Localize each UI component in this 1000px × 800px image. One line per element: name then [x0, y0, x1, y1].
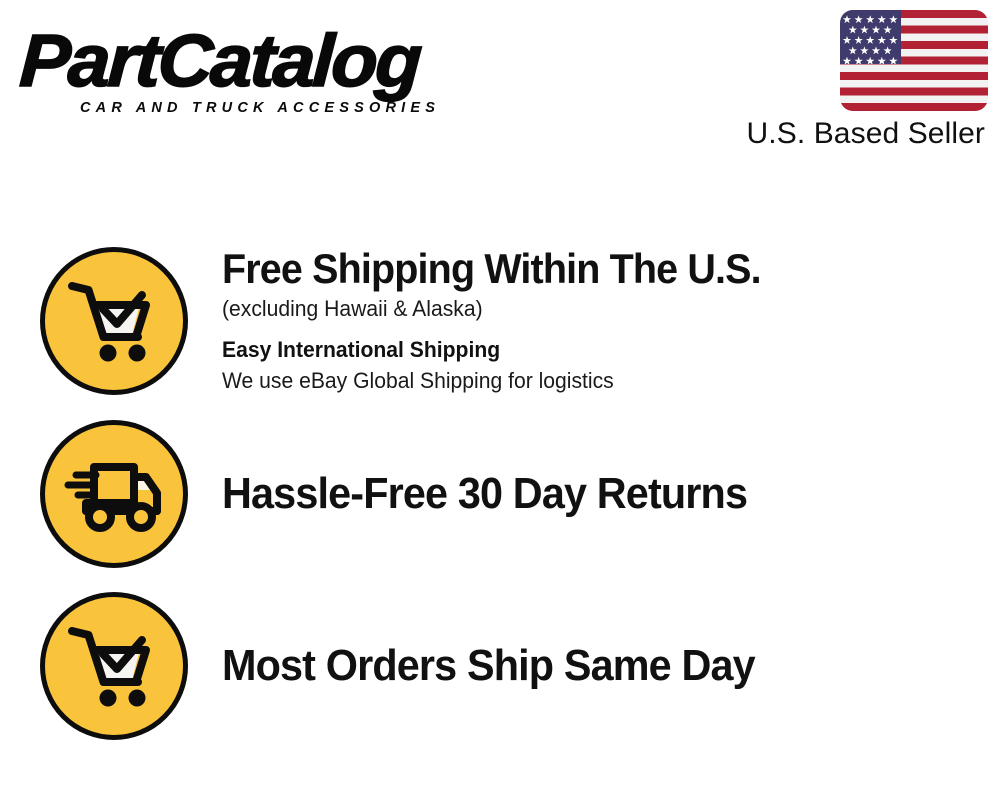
feature-headline: Hassle-Free 30 Day Returns: [222, 469, 935, 519]
feature-subtext-strong: Easy International Shipping: [222, 335, 950, 365]
delivery-truck-icon: [40, 420, 188, 568]
feature-text-block: Hassle-Free 30 Day Returns: [188, 469, 980, 519]
feature-headline: Most Orders Ship Same Day: [222, 641, 935, 691]
feature-list: Free Shipping Within The U.S. (excluding…: [0, 180, 1000, 760]
feature-subtext-secondary: We use eBay Global Shipping for logistic…: [222, 365, 950, 396]
brand-logo: PartCatalog CAR AND TRUCK ACCESSORIES: [22, 24, 492, 119]
us-flag-icon: [840, 10, 988, 111]
feature-row: Most Orders Ship Same Day: [40, 592, 980, 740]
cart-check-icon: [40, 247, 188, 395]
feature-text-block: Free Shipping Within The U.S. (excluding…: [188, 245, 980, 396]
feature-headline: Free Shipping Within The U.S.: [222, 245, 935, 293]
banner-header: PartCatalog CAR AND TRUCK ACCESSORIES: [0, 0, 1000, 175]
feature-row: Free Shipping Within The U.S. (excluding…: [40, 245, 980, 396]
brand-tagline: CAR AND TRUCK ACCESSORIES: [80, 100, 492, 116]
brand-wordmark: PartCatalog: [18, 24, 506, 98]
us-based-seller-badge: U.S. Based Seller: [718, 10, 988, 151]
feature-subtext: (excluding Hawaii & Alaska): [222, 293, 950, 324]
flag-stars: [840, 10, 901, 64]
cart-check-icon: [40, 592, 188, 740]
promo-banner: PartCatalog CAR AND TRUCK ACCESSORIES: [0, 0, 1000, 800]
feature-text-block: Most Orders Ship Same Day: [188, 641, 980, 691]
us-based-seller-label: U.S. Based Seller: [718, 117, 985, 151]
feature-row: Hassle-Free 30 Day Returns: [40, 420, 980, 568]
